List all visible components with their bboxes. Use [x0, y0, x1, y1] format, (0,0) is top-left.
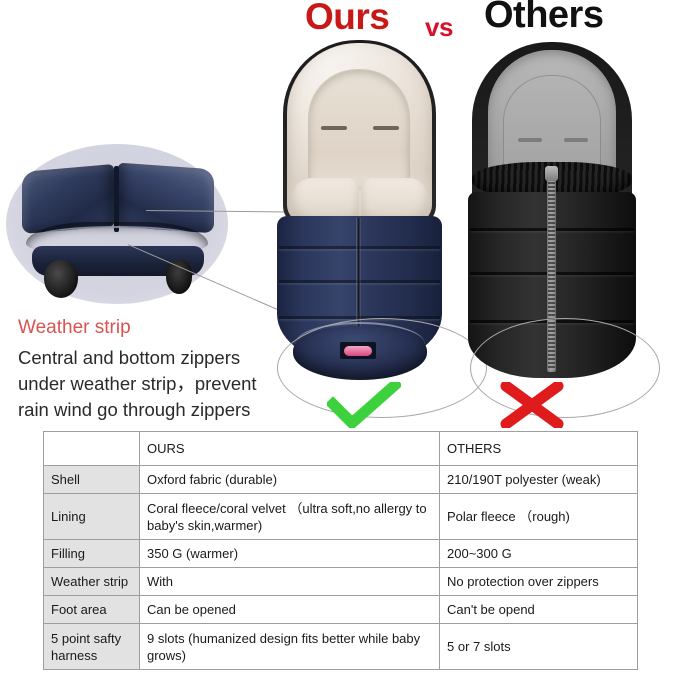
others-harness-slot-right	[564, 138, 588, 142]
table-cell-others: Can't be opend	[440, 596, 638, 624]
table-cell-feature: Lining	[44, 494, 140, 540]
table-row: LiningCoral fleece/coral velvet （ultra s…	[44, 494, 638, 540]
table-header-ours: OURS	[140, 432, 440, 466]
table-cell-feature: Shell	[44, 466, 140, 494]
table-cell-ours: With	[140, 568, 440, 596]
table-cell-ours: 9 slots (humanized design fits better wh…	[140, 624, 440, 670]
table-row: Foot areaCan be openedCan't be opend	[44, 596, 638, 624]
headline-ours: Ours	[305, 0, 389, 35]
ours-harness-slot-left	[321, 126, 347, 130]
table-row: Weather stripWithNo protection over zipp…	[44, 568, 638, 596]
headline-others: Others	[484, 0, 603, 34]
table-row: Filling350 G (warmer)200~300 G	[44, 540, 638, 568]
table-cell-feature: Foot area	[44, 596, 140, 624]
table-cell-ours: Coral fleece/coral velvet （ultra soft,no…	[140, 494, 440, 540]
annotation-title: Weather strip	[18, 317, 131, 339]
comparison-table: OURS OTHERS ShellOxford fabric (durable)…	[43, 431, 638, 670]
table-header-others: OTHERS	[440, 432, 638, 466]
table-cell-others: 200~300 G	[440, 540, 638, 568]
table-row: ShellOxford fabric (durable)210/190T pol…	[44, 466, 638, 494]
ours-harness-slot-right	[373, 126, 399, 130]
table-header-row: OURS OTHERS	[44, 432, 638, 466]
table-cell-feature: Filling	[44, 540, 140, 568]
headline-vs: vs	[425, 14, 453, 40]
red-cross-icon	[499, 382, 565, 428]
others-zipper-pull	[545, 166, 558, 181]
annotation-body: Central and bottom zippers under weather…	[18, 345, 290, 423]
table-cell-ours: 350 G (warmer)	[140, 540, 440, 568]
table-cell-feature: Weather strip	[44, 568, 140, 596]
others-harness-slot-left	[518, 138, 542, 142]
weather-strip-closeup-photo	[18, 160, 218, 300]
table-cell-others: 210/190T polyester (weak)	[440, 466, 638, 494]
inset-wheel-left	[44, 260, 78, 298]
table-cell-others: 5 or 7 slots	[440, 624, 638, 670]
table-cell-others: No protection over zippers	[440, 568, 638, 596]
table-body: ShellOxford fabric (durable)210/190T pol…	[44, 466, 638, 670]
table-cell-others: Polar fleece （rough)	[440, 494, 638, 540]
table-cell-feature: 5 point safty harness	[44, 624, 140, 670]
green-check-icon	[327, 382, 401, 428]
table-cell-ours: Can be opened	[140, 596, 440, 624]
table-header-blank	[44, 432, 140, 466]
table-row: 5 point safty harness9 slots (humanized …	[44, 624, 638, 670]
infographic-canvas: Ours vs Others	[0, 0, 679, 679]
inset-wheel-right	[166, 260, 192, 294]
table-cell-ours: Oxford fabric (durable)	[140, 466, 440, 494]
